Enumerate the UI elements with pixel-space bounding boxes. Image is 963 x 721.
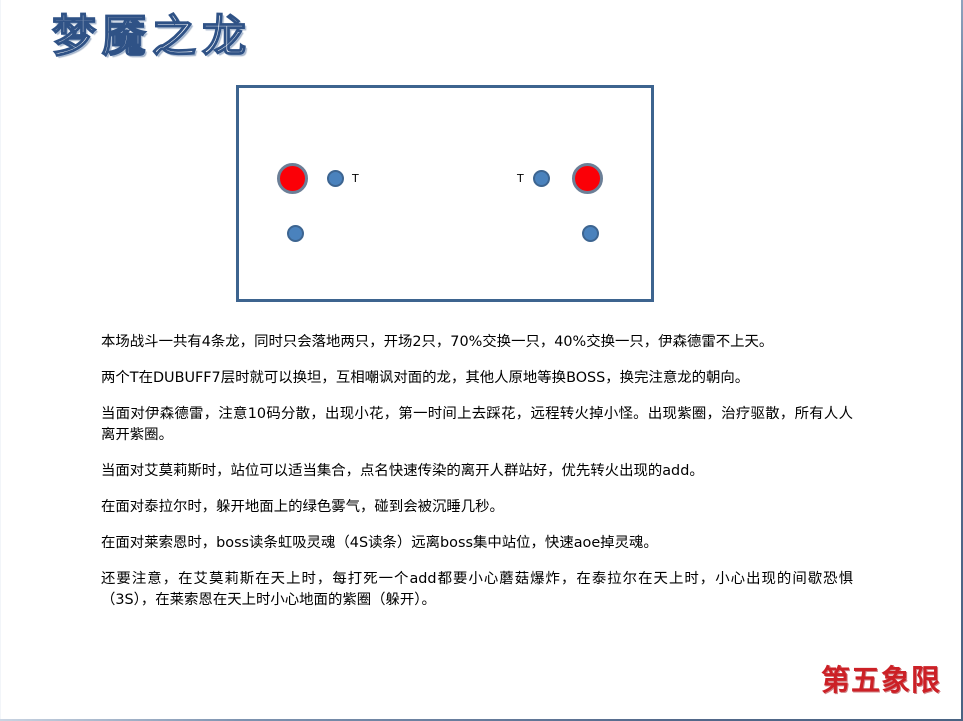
marker-boss-left xyxy=(277,163,308,194)
marker-dps-right xyxy=(582,225,599,242)
body-paragraph-3: 当面对伊森德雷，注意10码分散，出现小花，第一时间上去踩花，远程转火掉小怪。出现… xyxy=(101,404,853,446)
marker-dps-left xyxy=(287,225,304,242)
body-paragraph-2: 两个T在DUBUFF7层时就可以换坦，互相嘲讽对面的龙，其他人原地等换BOSS，… xyxy=(101,368,853,389)
raid-positioning-diagram: TT xyxy=(236,85,654,302)
marker-boss-right xyxy=(572,163,603,194)
tank-label-right: T xyxy=(517,173,524,184)
body-paragraph-7: 还要注意，在艾莫莉斯在天上时，每打死一个add都要小心蘑菇爆炸，在泰拉尔在天上时… xyxy=(101,569,853,611)
tank-label-left: T xyxy=(352,173,359,184)
marker-tank-right xyxy=(533,170,550,187)
body-paragraph-6: 在面对莱索恩时，boss读条虹吸灵魂（4S读条）远离boss集中站位，快速aoe… xyxy=(101,533,853,554)
slide-title: 梦魇之龙 xyxy=(52,8,252,66)
marker-tank-left xyxy=(327,170,344,187)
body-paragraph-4: 当面对艾莫莉斯时，站位可以适当集合，点名快速传染的离开人群站好，优先转火出现的a… xyxy=(101,461,853,482)
page-border-left xyxy=(0,0,1,721)
body-paragraph-5: 在面对泰拉尔时，躲开地面上的绿色雾气，碰到会被沉睡几秒。 xyxy=(101,497,853,518)
body-text-block: 本场战斗一共有4条龙，同时只会落地两只，开场2只，70%交换一只，40%交换一只… xyxy=(101,332,853,611)
slide-canvas: 梦魇之龙 TT 本场战斗一共有4条龙，同时只会落地两只，开场2只，70%交换一只… xyxy=(0,0,963,721)
body-paragraph-1: 本场战斗一共有4条龙，同时只会落地两只，开场2只，70%交换一只，40%交换一只… xyxy=(101,332,853,353)
watermark-label: 第五象限 xyxy=(821,657,941,699)
